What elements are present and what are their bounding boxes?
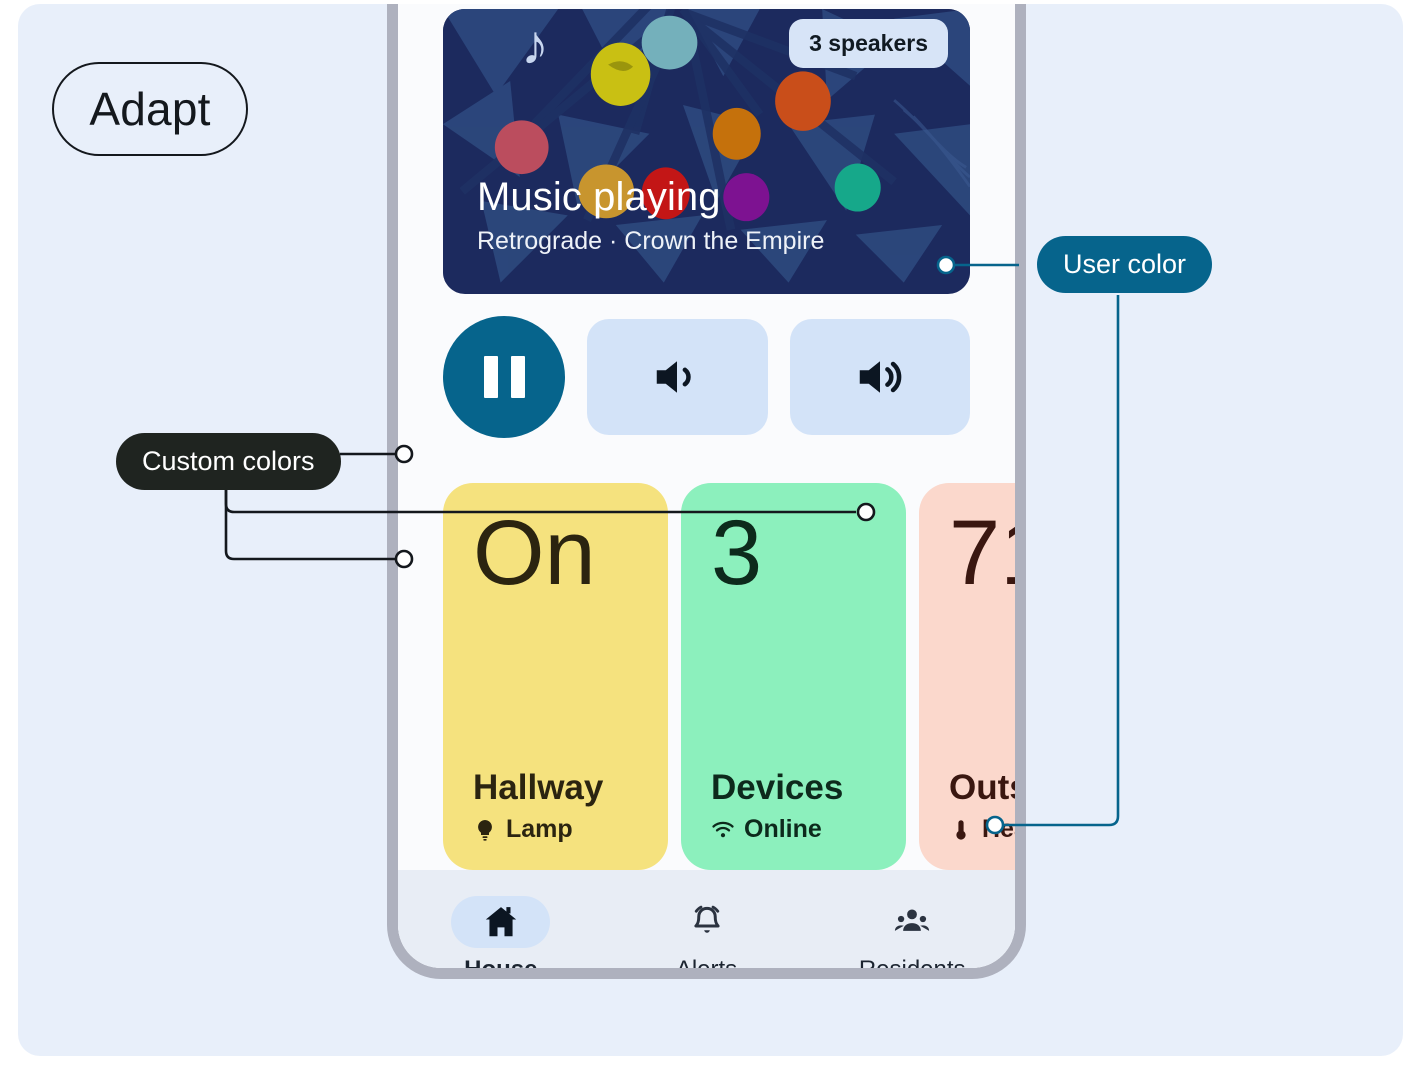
tile-hallway[interactable]: On Hallway Lamp: [443, 483, 668, 870]
adapt-label: Adapt: [89, 82, 210, 136]
nav-label: Alerts: [676, 956, 737, 968]
annotation-label: Custom colors: [142, 446, 315, 477]
people-icon: [893, 903, 931, 941]
design-canvas: ♪ 3 speakers Music playing Retrograde · …: [18, 4, 1403, 1056]
tile-devices[interactable]: 3 Devices Online: [681, 483, 906, 870]
volume-down-button[interactable]: [587, 319, 768, 435]
nav-label: House: [464, 956, 537, 968]
media-subtitle: Retrograde · Crown the Empire: [477, 227, 824, 256]
tile-value: 71: [949, 505, 1015, 602]
annotation-user-color: User color: [1037, 236, 1212, 293]
thermometer-icon: [949, 818, 973, 842]
media-controls: [443, 316, 970, 438]
tile-name: Outside: [949, 769, 1015, 808]
nav-label: Residents: [859, 956, 966, 968]
phone-frame: ♪ 3 speakers Music playing Retrograde · …: [387, 4, 1026, 979]
annotation-label: User color: [1063, 249, 1186, 280]
status-tiles: On Hallway Lamp: [443, 483, 1015, 870]
tile-footer: Outside Heating: [949, 769, 1015, 845]
volume-down-icon: [650, 350, 704, 404]
tile-footer: Devices Online: [711, 769, 876, 845]
bottom-navigation: House Alerts: [398, 870, 1015, 968]
media-card[interactable]: ♪ 3 speakers Music playing Retrograde · …: [443, 9, 970, 294]
tile-status: Lamp: [473, 815, 638, 844]
pause-button[interactable]: [443, 316, 565, 438]
volume-up-button[interactable]: [790, 319, 971, 435]
tile-status: Heating: [949, 815, 1015, 844]
tile-status-label: Heating: [982, 815, 1015, 844]
nav-active-pill: [451, 896, 550, 948]
tile-value: 3: [711, 505, 876, 602]
tile-status: Online: [711, 815, 876, 844]
tile-value: On: [473, 505, 638, 602]
adapt-badge: Adapt: [52, 62, 248, 156]
tile-footer: Hallway Lamp: [473, 769, 638, 845]
tile-status-label: Lamp: [506, 815, 573, 844]
tile-outside[interactable]: 71 Outside Heating: [919, 483, 1015, 870]
pause-icon: [484, 356, 525, 398]
speakers-badge[interactable]: 3 speakers: [789, 19, 948, 68]
tile-name: Hallway: [473, 769, 638, 808]
lightbulb-icon: [473, 818, 497, 842]
media-text-block: Music playing Retrograde · Crown the Emp…: [477, 174, 824, 256]
annotation-custom-colors: Custom colors: [116, 433, 341, 490]
media-title: Music playing: [477, 174, 824, 221]
tile-name: Devices: [711, 769, 876, 808]
phone-screen: ♪ 3 speakers Music playing Retrograde · …: [398, 4, 1015, 968]
nav-item-alerts[interactable]: Alerts: [604, 896, 810, 968]
nav-pill: [657, 896, 756, 948]
nav-item-house[interactable]: House: [398, 896, 604, 968]
nav-item-residents[interactable]: Residents: [809, 896, 1015, 968]
home-icon: [482, 903, 520, 941]
tile-status-label: Online: [744, 815, 822, 844]
nav-pill: [863, 896, 962, 948]
wifi-icon: [711, 818, 735, 842]
volume-up-icon: [853, 350, 907, 404]
bell-icon: [688, 903, 726, 941]
